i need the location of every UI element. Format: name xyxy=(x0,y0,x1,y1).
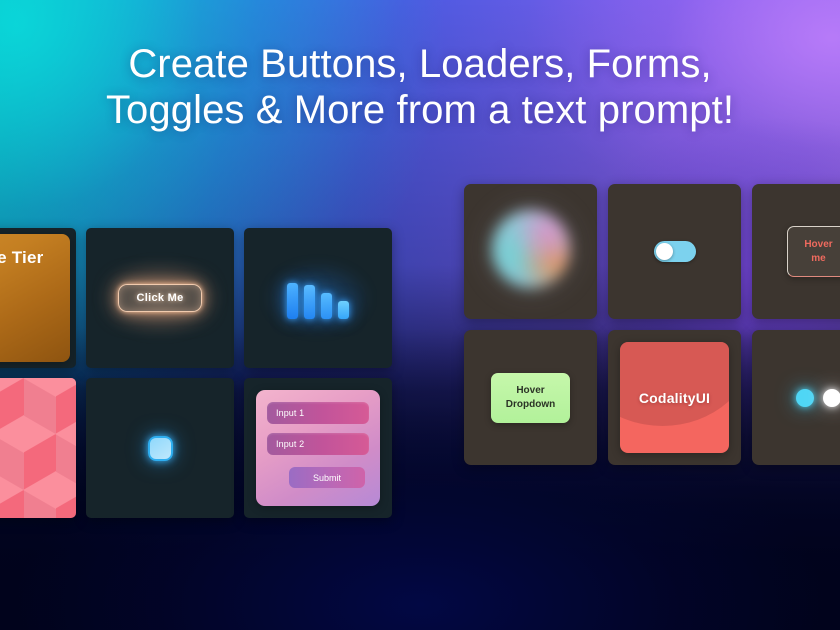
brand-panel[interactable]: CodalityUI xyxy=(620,342,729,453)
orb-core xyxy=(492,210,570,288)
page-title-line-2: Toggles & More from a text prompt! xyxy=(0,90,840,130)
card-bar-loader[interactable] xyxy=(244,228,392,368)
card-glow-square[interactable] xyxy=(86,378,234,518)
component-grid-left: Bronze Tier Hover me Click Me Input 1 In… xyxy=(0,228,392,518)
page-title-line-1: Create Buttons, Loaders, Forms, xyxy=(0,44,840,84)
card-brand[interactable]: CodalityUI xyxy=(608,330,741,465)
page-title: Create Buttons, Loaders, Forms, Toggles … xyxy=(0,44,840,130)
toggle-switch-icon[interactable] xyxy=(654,241,696,262)
submit-button[interactable]: Submit xyxy=(289,467,365,488)
card-hover-button[interactable]: Hover me xyxy=(752,184,840,319)
input-field-1[interactable]: Input 1 xyxy=(267,402,369,424)
input-field-2[interactable]: Input 2 xyxy=(267,433,369,455)
loader-bar xyxy=(338,301,349,319)
hover-dropdown-line-2: Dropdown xyxy=(506,399,555,410)
form-panel: Input 1 Input 2 Submit xyxy=(256,390,380,506)
card-toggle[interactable] xyxy=(608,184,741,319)
loader-bar xyxy=(321,293,332,319)
brand-label: CodalityUI xyxy=(639,390,710,406)
card-bronze-tier[interactable]: Bronze Tier Hover me xyxy=(0,228,76,368)
bronze-tier-panel[interactable]: Bronze Tier Hover me xyxy=(0,234,70,362)
component-grid-right: Hover me Hover Dropdown CodalityUI xyxy=(464,184,840,465)
card-dot-loader[interactable] xyxy=(752,330,840,465)
bronze-tier-subtitle: Hover me xyxy=(0,292,56,304)
loader-dot-white xyxy=(823,389,840,407)
isometric-cube-pattern-icon xyxy=(0,378,76,518)
loader-dot-cyan xyxy=(796,389,814,407)
hover-dropdown-button[interactable]: Hover Dropdown xyxy=(491,373,570,423)
hover-me-line-1: Hover xyxy=(804,239,832,250)
hover-me-button[interactable]: Hover me xyxy=(787,226,840,277)
card-neon-button[interactable]: Click Me xyxy=(86,228,234,368)
card-hover-dropdown[interactable]: Hover Dropdown xyxy=(464,330,597,465)
loader-bar xyxy=(287,283,298,319)
click-me-button[interactable]: Click Me xyxy=(118,284,201,312)
dot-pulse-loader-icon xyxy=(796,389,840,407)
glowing-rounded-square-icon xyxy=(148,436,173,461)
loader-bar xyxy=(304,285,315,319)
hover-dropdown-line-1: Hover xyxy=(516,385,544,396)
card-form[interactable]: Input 1 Input 2 Submit xyxy=(244,378,392,518)
hover-me-line-2: me xyxy=(811,253,825,264)
gradient-glow-orb-icon xyxy=(464,184,597,319)
equalizer-bars-loader-icon xyxy=(287,277,349,319)
card-cube-pattern[interactable] xyxy=(0,378,76,518)
brand-sheen xyxy=(620,342,729,426)
bronze-tier-title: Bronze Tier xyxy=(0,248,56,268)
card-glow-orb[interactable] xyxy=(464,184,597,319)
toggle-knob[interactable] xyxy=(656,243,673,260)
